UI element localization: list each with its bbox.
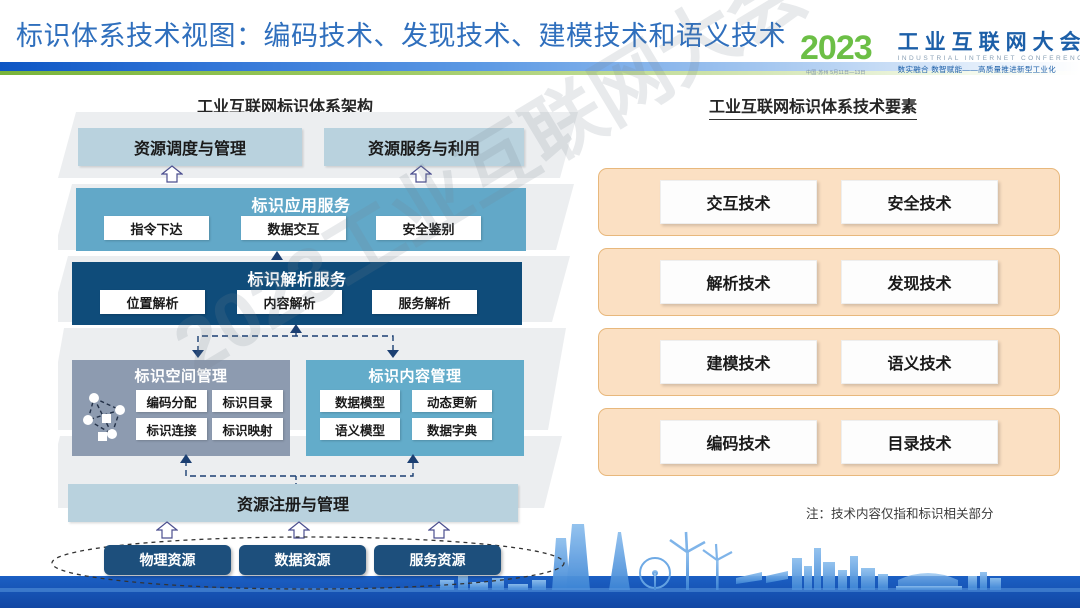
tech-chip[interactable]: 安全技术 (841, 180, 998, 224)
right-column-title: 工业互联网标识体系技术要素 (709, 93, 917, 120)
tech-row: 交互技术 安全技术 (598, 168, 1060, 236)
chip-item[interactable]: 数据字典 (412, 418, 492, 440)
chip-item[interactable]: 编码分配 (136, 390, 207, 412)
tech-row: 解析技术 发现技术 (598, 248, 1060, 316)
tech-chip[interactable]: 语义技术 (841, 340, 998, 384)
tech-row: 编码技术 目录技术 (598, 408, 1060, 476)
arrow-up-solid-icon (270, 251, 284, 263)
chip-item[interactable]: 标识目录 (212, 390, 283, 412)
management-identifier-content[interactable]: 标识内容管理 数据模型 动态更新 语义模型 数据字典 (306, 360, 524, 456)
layer-identifier-resolution-service[interactable]: 标识解析服务 位置解析 内容解析 服务解析 (72, 262, 522, 325)
tech-chip[interactable]: 解析技术 (660, 260, 817, 304)
resource-pill-physical[interactable]: 物理资源 (104, 545, 231, 575)
technology-elements-panel: 交互技术 安全技术 解析技术 发现技术 建模技术 语义技术 编码技术 目录技术 (598, 168, 1060, 498)
top-box-resource-scheduling[interactable]: 资源调度与管理 (78, 128, 302, 166)
footnote: 注：技术内容仅指和标识相关部分 (806, 503, 994, 522)
logo-en-name: INDUSTRIAL INTERNET CONFERENCE (898, 54, 1080, 64)
tech-row: 建模技术 语义技术 (598, 328, 1060, 396)
arrow-up-icon (410, 165, 432, 183)
layer-identifier-application-service[interactable]: 标识应用服务 指令下达 数据交互 安全鉴别 (76, 188, 526, 251)
tech-chip[interactable]: 编码技术 (660, 420, 817, 464)
resource-pill-service[interactable]: 服务资源 (374, 545, 501, 575)
chip-item[interactable]: 安全鉴别 (376, 216, 481, 240)
tech-chip[interactable]: 建模技术 (660, 340, 817, 384)
chip-item[interactable]: 指令下达 (104, 216, 209, 240)
arrow-up-icon (161, 165, 183, 183)
layer-title: 标识应用服务 (76, 188, 526, 216)
page-title: 标识体系技术视图：编码技术、发现技术、建模技术和语义技术 (16, 14, 786, 53)
layer-title: 标识解析服务 (72, 262, 522, 290)
chip-item[interactable]: 服务解析 (372, 290, 477, 314)
dashed-connector-upper (58, 324, 558, 366)
logo-date-text: 中国·苏州 5月11日—13日 (800, 69, 872, 76)
dashed-connector-lower (58, 454, 558, 490)
slide-header: 标识体系技术视图：编码技术、发现技术、建模技术和语义技术 2023 中国·苏州 … (0, 0, 1080, 90)
resource-pill-data[interactable]: 数据资源 (239, 545, 366, 575)
registration-label: 资源注册与管理 (237, 491, 349, 515)
network-nodes-icon (78, 388, 134, 446)
chip-item[interactable]: 内容解析 (237, 290, 342, 314)
chip-item[interactable]: 语义模型 (320, 418, 400, 440)
top-box-resource-service[interactable]: 资源服务与利用 (324, 128, 524, 166)
identifier-architecture-diagram: 资源调度与管理 资源服务与利用 标识应用服务 指令下达 数据交互 安全鉴别 标识… (58, 112, 578, 532)
chip-item[interactable]: 标识连接 (136, 418, 207, 440)
chip-item[interactable]: 标识映射 (212, 418, 283, 440)
logo-cn-name: 工业互联网大会 (898, 31, 1080, 54)
top-box-label: 资源调度与管理 (134, 135, 246, 159)
tech-chip[interactable]: 发现技术 (841, 260, 998, 304)
logo-slogan: 数实融合 数智赋能——高质量推进新型工业化 (898, 64, 1080, 75)
logo-year-text: 2023 (800, 31, 872, 65)
management-identifier-space[interactable]: 标识空间管理 编码分配 标识目录 标识连接 标识映射 (72, 360, 290, 456)
conference-logo: 2023 中国·苏州 5月11日—13日 工业互联网大会 INDUSTRIAL … (800, 26, 1072, 80)
tech-chip[interactable]: 交互技术 (660, 180, 817, 224)
chip-item[interactable]: 动态更新 (412, 390, 492, 412)
logo-year-block: 2023 中国·苏州 5月11日—13日 (800, 31, 880, 76)
tech-chip[interactable]: 目录技术 (841, 420, 998, 464)
chip-item[interactable]: 数据交互 (241, 216, 346, 240)
chip-item[interactable]: 数据模型 (320, 390, 400, 412)
logo-text-block: 工业互联网大会 INDUSTRIAL INTERNET CONFERENCE 数… (898, 31, 1080, 75)
top-box-label: 资源服务与利用 (368, 135, 480, 159)
chip-item[interactable]: 位置解析 (100, 290, 205, 314)
